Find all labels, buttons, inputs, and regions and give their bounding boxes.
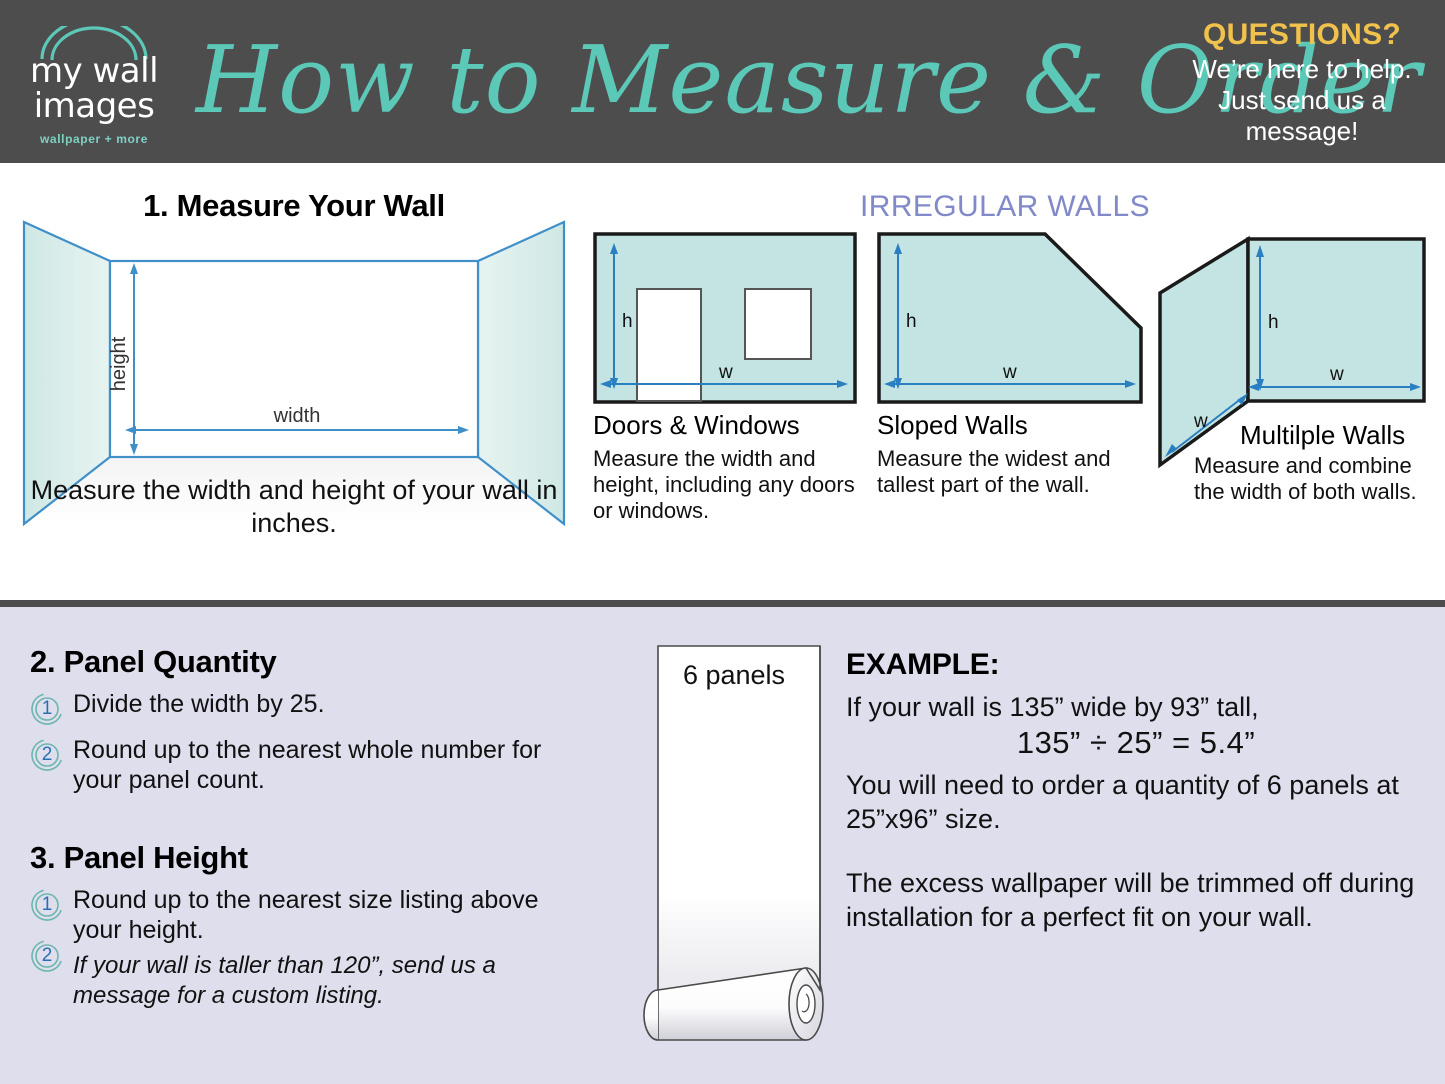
irregular-desc: Measure the widest and tallest part of t… <box>877 446 1143 498</box>
step-3-title: 3. Panel Height <box>30 840 560 876</box>
irregular-name: Doors & Windows <box>593 409 859 441</box>
irregular-doors-windows: h w Doors & Windows Measure the width an… <box>593 232 859 546</box>
number-badge-icon: 1 <box>30 888 64 922</box>
badge-number: 2 <box>30 939 64 973</box>
example-line-3: The excess wallpaper will be trimmed off… <box>846 866 1426 934</box>
section-divider <box>0 600 1445 607</box>
h-label: h <box>622 311 633 332</box>
number-badge-icon: 2 <box>30 738 64 772</box>
step-1-measure-wall: 1. Measure Your Wall <box>14 188 574 536</box>
window-shape <box>745 289 811 359</box>
number-badge-icon: 1 <box>30 692 64 726</box>
step-3-note: If your wall is taller than 120”, send u… <box>73 951 560 1011</box>
h-label: h <box>906 311 917 332</box>
step-2-bullet-1: 1 Divide the width by 25. <box>30 689 550 726</box>
width-label: width <box>273 405 321 427</box>
badge-number: 2 <box>30 738 64 772</box>
example-line-2: You will need to order a quantity of 6 p… <box>846 768 1426 836</box>
irregular-sloped-walls: h w Sloped Walls Measure the widest and … <box>877 232 1143 520</box>
sloped-wall-diagram: h w <box>877 232 1143 404</box>
wallpaper-roll-illustration: 6 panels <box>634 638 844 1063</box>
step-1-caption: Measure the width and height of your wal… <box>14 474 574 540</box>
bullet-text: Round up to the nearest whole number for… <box>73 735 550 795</box>
logo-line-2: images <box>14 89 174 124</box>
page-title: How to Measure & Order <box>196 10 1176 150</box>
logo-wordmark: my wall images <box>14 54 174 124</box>
example-heading: EXAMPLE: <box>846 648 1426 682</box>
header-bar: my wall images wallpaper + more How to M… <box>0 0 1445 163</box>
step-2-panel-quantity: 2. Panel Quantity 1 Divide the width by … <box>30 644 550 795</box>
step-2-bullet-2: 2 Round up to the nearest whole number f… <box>30 735 550 795</box>
badge-number: 1 <box>30 692 64 726</box>
irregular-desc: Measure the width and height, including … <box>593 446 859 524</box>
logo-tagline: wallpaper + more <box>14 132 174 146</box>
step-2-title: 2. Panel Quantity <box>30 644 550 680</box>
height-label: height <box>108 336 130 391</box>
w-label: w <box>718 362 733 383</box>
doors-windows-diagram: h w <box>593 232 857 404</box>
w-label-2: w <box>1193 411 1208 432</box>
logo-line-1: my wall <box>14 54 174 89</box>
number-badge-icon-2: 2 <box>30 939 64 973</box>
roll-panel-count: 6 panels <box>634 660 834 691</box>
questions-block: QUESTIONS? We’re here to help. Just send… <box>1177 18 1427 147</box>
badge-number: 1 <box>30 888 64 922</box>
bullet-text: Divide the width by 25. <box>73 689 550 719</box>
questions-heading: QUESTIONS? <box>1177 18 1427 52</box>
irregular-desc: Measure and combine the width of both wa… <box>1194 453 1440 505</box>
w-label: w <box>1329 364 1344 385</box>
infographic-page: my wall images wallpaper + more How to M… <box>0 0 1445 1084</box>
brand-logo: my wall images wallpaper + more <box>14 24 174 150</box>
roll-svg <box>634 638 844 1058</box>
irregular-name: Sloped Walls <box>877 409 1143 441</box>
bullet-text: Round up to the nearest size listing abo… <box>73 885 560 945</box>
example-line-1: If your wall is 135” wide by 93” tall, <box>846 690 1426 724</box>
example-spacer <box>846 836 1426 866</box>
w-label: w <box>1002 362 1017 383</box>
example-block: EXAMPLE: If your wall is 135” wide by 93… <box>846 648 1426 934</box>
example-equation: 135” ÷ 25” = 5.4” <box>846 726 1426 760</box>
irregular-walls-title: IRREGULAR WALLS <box>840 190 1150 224</box>
back-wall <box>110 261 478 457</box>
questions-body: We’re here to help. Just send us a messa… <box>1177 54 1427 147</box>
irregular-name: Multilple Walls <box>1240 419 1405 451</box>
step-3-bullet-1: 1 Round up to the nearest size listing a… <box>30 885 560 945</box>
h-label: h <box>1268 312 1279 333</box>
step-3-panel-height: 3. Panel Height 1 Round up to the neares… <box>30 840 560 1011</box>
